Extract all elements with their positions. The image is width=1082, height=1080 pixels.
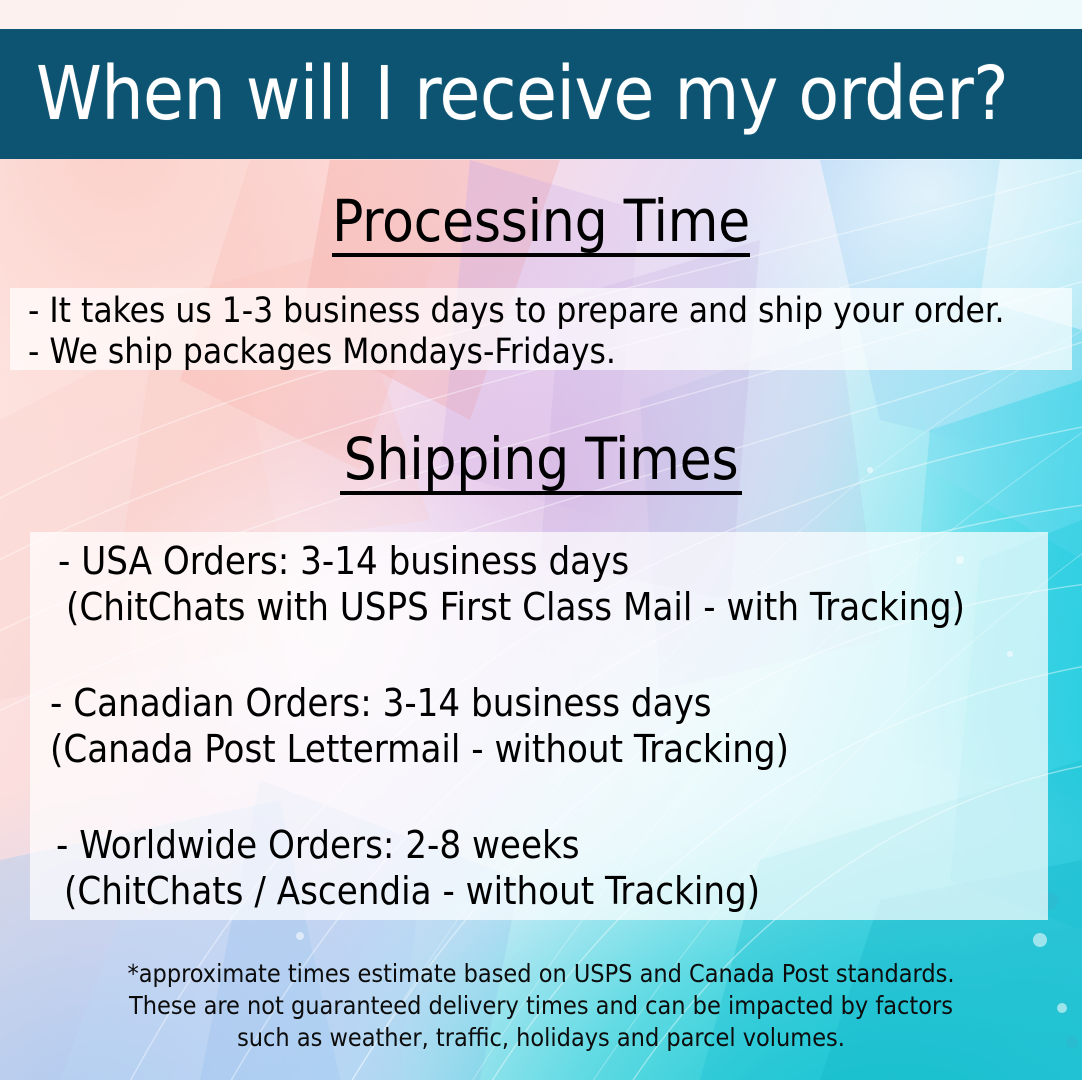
shipping-canada-line-2: (Canada Post Lettermail - without Tracki… — [50, 726, 1048, 772]
shipping-group-worldwide: - Worldwide Orders: 2-8 weeks (ChitChats… — [30, 772, 1048, 914]
section-heading-processing-time-text: Processing Time — [332, 192, 750, 257]
shipping-usa-line-1: - USA Orders: 3-14 business days — [58, 538, 1048, 584]
shipping-worldwide-line-1: - Worldwide Orders: 2-8 weeks — [56, 822, 1048, 868]
processing-line-2: - We ship packages Mondays-Fridays. — [10, 332, 1072, 373]
processing-line-1: - It takes us 1-3 business days to prepa… — [10, 288, 1072, 332]
shipping-canada-line-1: - Canadian Orders: 3-14 business days — [50, 680, 1048, 726]
section-heading-processing-time: Processing Time — [0, 192, 1082, 257]
infographic-page: When will I receive my order? Processing… — [0, 0, 1082, 1080]
footnote-line-1: *approximate times estimate based on USP… — [0, 958, 1082, 990]
processing-time-panel: - It takes us 1-3 business days to prepa… — [10, 288, 1072, 370]
page-title: When will I receive my order? — [0, 57, 1008, 131]
footnote: *approximate times estimate based on USP… — [0, 958, 1082, 1054]
top-strip — [0, 0, 1082, 29]
shipping-times-panel: - USA Orders: 3-14 business days (ChitCh… — [30, 532, 1048, 920]
shipping-usa-line-2: (ChitChats with USPS First Class Mail - … — [58, 584, 1048, 630]
section-heading-shipping-times: Shipping Times — [0, 430, 1082, 495]
shipping-group-usa: - USA Orders: 3-14 business days (ChitCh… — [30, 532, 1048, 630]
header-banner: When will I receive my order? — [0, 29, 1082, 159]
shipping-worldwide-line-2: (ChitChats / Ascendia - without Tracking… — [56, 868, 1048, 914]
shipping-group-canada: - Canadian Orders: 3-14 business days (C… — [30, 630, 1048, 772]
section-heading-shipping-times-text: Shipping Times — [340, 430, 743, 495]
footnote-line-3: such as weather, traffic, holidays and p… — [0, 1022, 1082, 1054]
footnote-line-2: These are not guaranteed delivery times … — [0, 990, 1082, 1022]
